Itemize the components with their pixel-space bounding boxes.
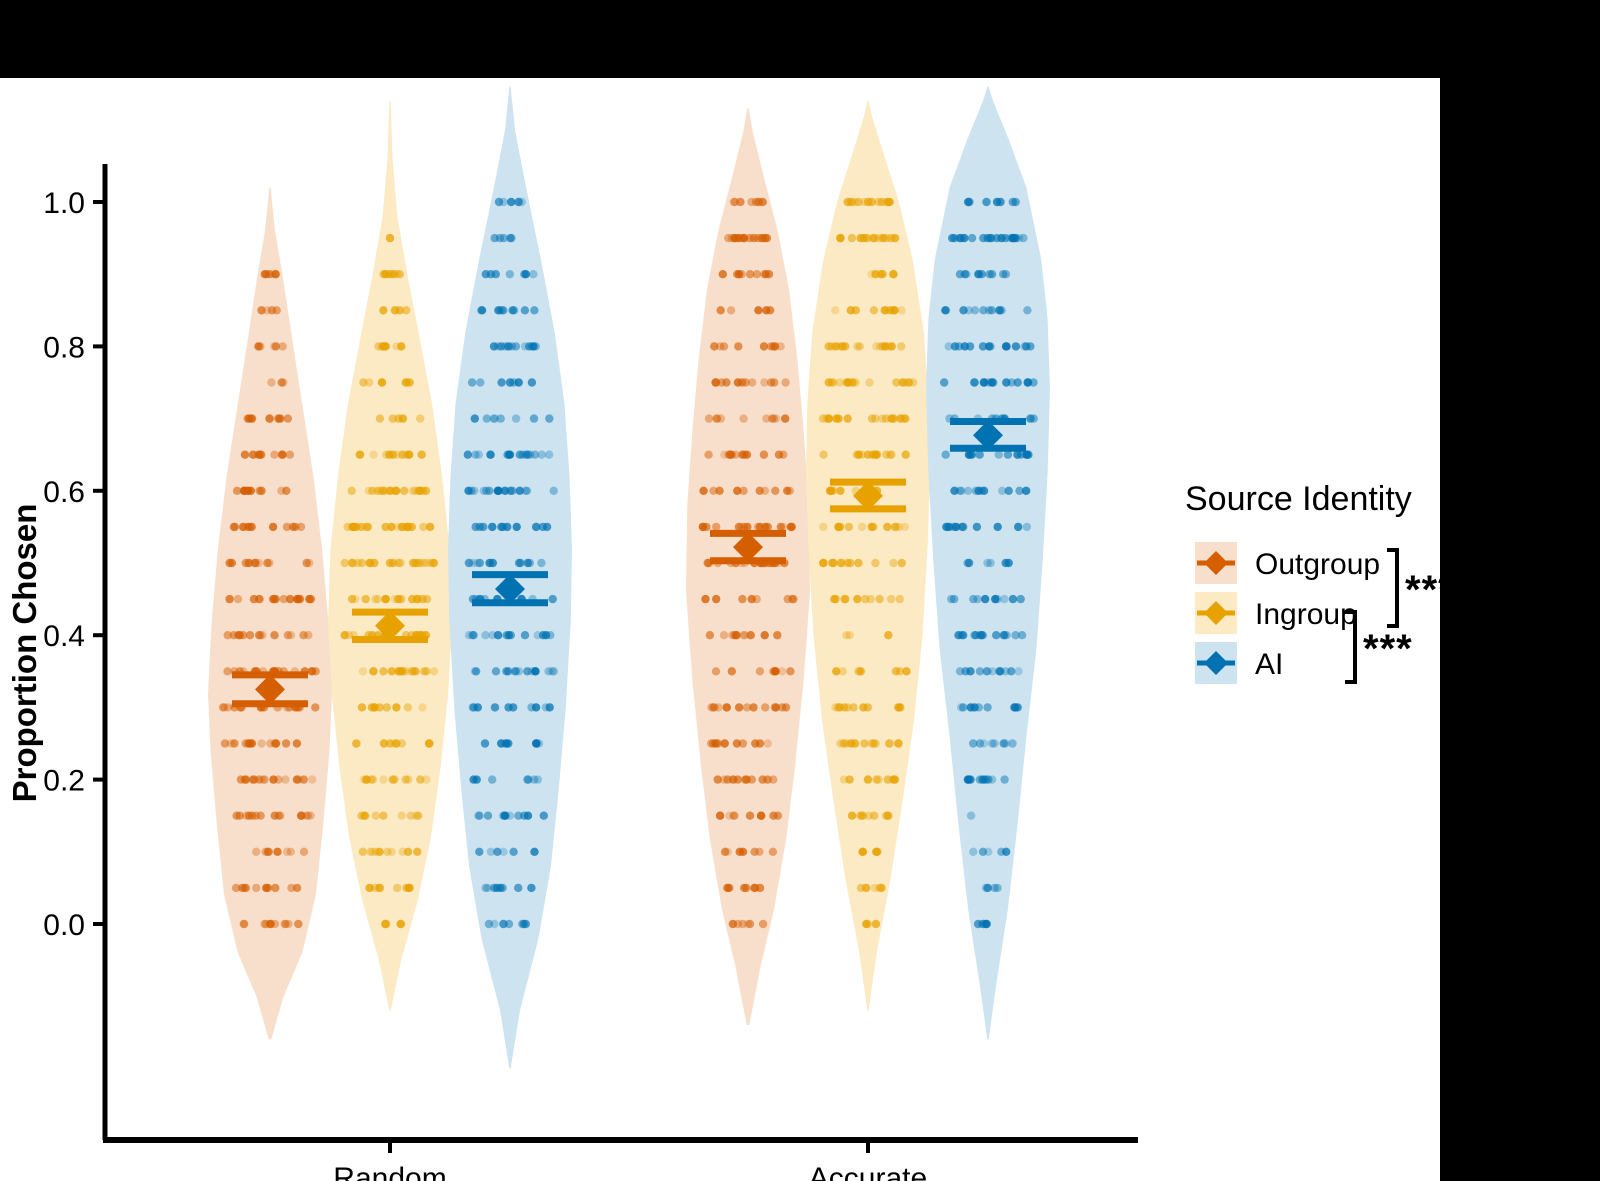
data-point [389, 451, 397, 459]
data-point [950, 523, 958, 531]
data-point [264, 848, 272, 856]
data-point [272, 595, 280, 603]
data-point [549, 595, 557, 603]
legend-item-label: Outgroup [1255, 548, 1380, 581]
data-point [967, 812, 975, 820]
data-point [982, 198, 990, 206]
data-point [1023, 523, 1031, 531]
data-point [997, 667, 1005, 675]
data-point [841, 595, 849, 603]
data-point [505, 920, 513, 928]
data-point [725, 812, 733, 820]
data-point [881, 306, 889, 314]
data-point [407, 812, 415, 820]
data-point [969, 848, 977, 856]
data-point [887, 414, 895, 422]
data-point [891, 775, 899, 783]
data-point [362, 775, 370, 783]
data-point [887, 451, 895, 459]
data-point [759, 198, 767, 206]
data-point [983, 703, 991, 711]
data-point [1000, 739, 1008, 747]
data-point [754, 306, 762, 314]
data-point [728, 631, 736, 639]
data-point [764, 523, 772, 531]
data-point [713, 414, 721, 422]
data-point [509, 848, 517, 856]
data-point [257, 451, 265, 459]
data-point [542, 631, 550, 639]
data-point [902, 451, 910, 459]
data-point [507, 198, 515, 206]
data-point [375, 848, 383, 856]
data-point [1001, 631, 1009, 639]
data-point [287, 848, 295, 856]
data-point [382, 595, 390, 603]
data-point [243, 414, 251, 422]
data-point [488, 775, 496, 783]
data-point [868, 414, 876, 422]
data-point [892, 667, 900, 675]
legend-item-label: Ingroup [1255, 598, 1357, 631]
data-point [761, 487, 769, 495]
data-point [704, 451, 712, 459]
data-point [754, 523, 762, 531]
data-point [940, 378, 948, 386]
data-point [854, 559, 862, 567]
data-point [979, 631, 987, 639]
data-point [734, 378, 742, 386]
data-point [761, 631, 769, 639]
data-point [867, 270, 875, 278]
data-point [781, 378, 789, 386]
data-point [255, 631, 263, 639]
data-point [386, 234, 394, 242]
data-point [550, 487, 558, 495]
data-point [228, 559, 236, 567]
data-point [237, 775, 245, 783]
data-point [530, 414, 538, 422]
data-point [1004, 451, 1012, 459]
data-point [464, 487, 472, 495]
data-point [348, 595, 356, 603]
data-point [984, 775, 992, 783]
data-point [993, 884, 1001, 892]
legend-item-label: AI [1255, 648, 1283, 681]
data-point [220, 703, 228, 711]
data-point [378, 378, 386, 386]
data-point [250, 559, 258, 567]
data-point [951, 234, 959, 242]
data-point [719, 270, 727, 278]
data-point [865, 812, 873, 820]
data-point [773, 631, 781, 639]
data-point [720, 631, 728, 639]
data-point [356, 451, 364, 459]
data-point [520, 920, 528, 928]
data-point [743, 775, 751, 783]
data-point [512, 414, 520, 422]
data-point [393, 884, 401, 892]
data-point [504, 342, 512, 350]
y-tick-label: 0.4 [43, 620, 85, 653]
data-point [872, 848, 880, 856]
data-point [538, 451, 546, 459]
data-point [276, 812, 284, 820]
data-point [252, 848, 260, 856]
data-point [475, 812, 483, 820]
x-tick-label: Random [333, 1162, 446, 1181]
data-point [359, 848, 367, 856]
data-point [1014, 667, 1022, 675]
data-point [909, 378, 917, 386]
data-point [969, 739, 977, 747]
data-point [481, 739, 489, 747]
data-point [492, 667, 500, 675]
data-point [847, 739, 855, 747]
y-tick-label: 1.0 [43, 187, 85, 220]
data-point [279, 378, 287, 386]
data-point [788, 523, 796, 531]
legend-item-ai: AI [1195, 642, 1283, 684]
data-point [471, 451, 479, 459]
data-point [1012, 342, 1020, 350]
data-point [897, 306, 905, 314]
data-point [981, 595, 989, 603]
data-point [281, 775, 289, 783]
data-point [727, 306, 735, 314]
data-point [286, 451, 294, 459]
data-point [484, 812, 492, 820]
data-point [840, 775, 848, 783]
data-point [722, 378, 730, 386]
data-point [523, 775, 531, 783]
data-point [1011, 631, 1019, 639]
data-point [284, 920, 292, 928]
data-point [379, 306, 387, 314]
data-point [366, 848, 374, 856]
data-point [734, 342, 742, 350]
data-point [870, 306, 878, 314]
data-point [737, 270, 745, 278]
data-point [244, 487, 252, 495]
data-point [358, 559, 366, 567]
data-point [767, 342, 775, 350]
data-point [1002, 342, 1010, 350]
data-point [721, 848, 729, 856]
data-point [530, 848, 538, 856]
data-point [761, 703, 769, 711]
data-point [842, 631, 850, 639]
data-point [844, 414, 852, 422]
data-point [863, 703, 871, 711]
data-point [416, 775, 424, 783]
data-point [786, 667, 794, 675]
data-point [469, 559, 477, 567]
data-point [550, 667, 558, 675]
data-point [723, 884, 731, 892]
data-point [1009, 595, 1017, 603]
data-point [824, 342, 832, 350]
data-point [477, 306, 485, 314]
data-point [770, 414, 778, 422]
data-point [976, 667, 984, 675]
data-point [221, 739, 229, 747]
data-point [508, 487, 516, 495]
data-point [1008, 739, 1016, 747]
data-point [831, 306, 839, 314]
bracket-path [1387, 550, 1397, 626]
data-point [892, 378, 900, 386]
data-point [527, 884, 535, 892]
data-point [368, 703, 376, 711]
data-point [875, 595, 883, 603]
data-point [901, 378, 909, 386]
significance-stars: *** [1363, 627, 1413, 671]
data-point [503, 631, 511, 639]
data-point [527, 703, 535, 711]
data-point [381, 920, 389, 928]
data-point [702, 523, 710, 531]
data-point [701, 595, 709, 603]
data-point [488, 523, 496, 531]
data-point [224, 631, 232, 639]
data-point [739, 920, 747, 928]
data-point [293, 739, 301, 747]
data-point [735, 703, 743, 711]
data-point [860, 739, 868, 747]
data-point [518, 451, 526, 459]
data-point [712, 523, 720, 531]
data-point [392, 703, 400, 711]
data-point [513, 523, 521, 531]
data-point [236, 812, 244, 820]
data-point [365, 884, 373, 892]
data-point [889, 270, 897, 278]
data-point [503, 451, 511, 459]
data-point [248, 812, 256, 820]
data-point [485, 559, 493, 567]
data-point [472, 667, 480, 675]
data-point [252, 884, 260, 892]
data-point [1013, 451, 1021, 459]
data-point [241, 451, 249, 459]
data-point [242, 884, 250, 892]
data-point [471, 414, 479, 422]
data-point [867, 523, 875, 531]
data-point [997, 848, 1005, 856]
data-point [942, 523, 950, 531]
data-point [494, 487, 502, 495]
data-point [988, 270, 996, 278]
data-point [497, 306, 505, 314]
data-point [379, 667, 387, 675]
data-point [845, 523, 853, 531]
data-point [968, 234, 976, 242]
y-tick-label: 0.2 [43, 765, 85, 798]
data-point [271, 920, 279, 928]
data-point [402, 306, 410, 314]
data-point [308, 667, 316, 675]
data-point [530, 306, 538, 314]
data-point [754, 234, 762, 242]
data-point [947, 595, 955, 603]
data-point [838, 342, 846, 350]
data-point [734, 775, 742, 783]
data-point [772, 703, 780, 711]
data-point [963, 559, 971, 567]
data-point [717, 306, 725, 314]
violin-plot: 0.00.20.40.60.81.0RandomAccurateSource A… [0, 78, 1440, 1181]
data-point [402, 775, 410, 783]
data-point [978, 270, 986, 278]
data-point [1007, 667, 1015, 675]
data-point [523, 667, 531, 675]
data-point [727, 451, 735, 459]
data-point [535, 739, 543, 747]
data-point [232, 884, 240, 892]
data-point [531, 667, 539, 675]
data-point [492, 270, 500, 278]
data-point [869, 739, 877, 747]
data-point [417, 451, 425, 459]
data-point [273, 848, 281, 856]
data-point [469, 775, 477, 783]
data-point [486, 451, 494, 459]
data-point [279, 342, 287, 350]
data-point [515, 378, 523, 386]
data-point [499, 198, 507, 206]
data-point [270, 631, 278, 639]
data-point [476, 378, 484, 386]
data-point [359, 667, 367, 675]
data-point [370, 559, 378, 567]
data-point [875, 775, 883, 783]
data-point [352, 739, 360, 747]
data-point [390, 775, 398, 783]
data-point [901, 523, 909, 531]
data-point [960, 234, 968, 242]
data-point [853, 595, 861, 603]
data-point [515, 559, 523, 567]
data-point [307, 595, 315, 603]
data-point [705, 414, 713, 422]
data-point [979, 234, 987, 242]
data-point [771, 487, 779, 495]
data-point [758, 775, 766, 783]
data-point [545, 451, 553, 459]
data-point [502, 739, 510, 747]
data-point [406, 378, 414, 386]
data-point [699, 487, 707, 495]
data-point [895, 703, 903, 711]
data-point [282, 487, 290, 495]
data-point [357, 523, 365, 531]
y-tick-label: 0.0 [43, 909, 85, 942]
data-point [970, 378, 978, 386]
data-point [223, 667, 231, 675]
data-point [898, 559, 906, 567]
violin-layer [208, 87, 1050, 1069]
data-point [991, 595, 999, 603]
data-point [1011, 234, 1019, 242]
data-point [242, 559, 250, 567]
data-point [1011, 198, 1019, 206]
legend-item-ingroup: Ingroup [1195, 592, 1357, 634]
data-point [415, 487, 423, 495]
data-point [406, 667, 414, 675]
data-point [733, 739, 741, 747]
data-point [832, 667, 840, 675]
data-point [397, 342, 405, 350]
data-point [524, 812, 532, 820]
data-point [302, 812, 310, 820]
data-point [286, 595, 294, 603]
data-point [819, 523, 827, 531]
data-point [987, 378, 995, 386]
data-point [381, 342, 389, 350]
data-point [882, 198, 890, 206]
data-point [387, 848, 395, 856]
data-point [1000, 595, 1008, 603]
data-point [269, 523, 277, 531]
data-point [425, 739, 433, 747]
data-point [746, 270, 754, 278]
data-point [1023, 306, 1031, 314]
data-point [786, 487, 794, 495]
data-point [464, 451, 472, 459]
data-point [413, 848, 421, 856]
legend-item-outgroup: Outgroup [1195, 542, 1380, 584]
data-point [769, 812, 777, 820]
data-point [827, 487, 835, 495]
data-point [532, 342, 540, 350]
data-point [305, 559, 313, 567]
data-point [876, 342, 884, 350]
data-point [494, 631, 502, 639]
data-point [833, 703, 841, 711]
data-point [825, 414, 833, 422]
data-point [270, 451, 278, 459]
data-point [712, 378, 720, 386]
data-point [404, 703, 412, 711]
data-point [878, 414, 886, 422]
data-point [976, 775, 984, 783]
data-point [369, 451, 377, 459]
data-point [728, 667, 736, 675]
data-point [369, 667, 377, 675]
data-point [964, 198, 972, 206]
data-point [777, 523, 785, 531]
data-point [1019, 234, 1027, 242]
data-point [733, 487, 741, 495]
data-point [871, 559, 879, 567]
data-point [239, 631, 247, 639]
data-point [994, 523, 1002, 531]
data-point [748, 378, 756, 386]
figure-root: 0.00.20.40.60.81.0RandomAccurateSource A… [0, 0, 1600, 1181]
data-point [1002, 559, 1010, 567]
data-point [982, 884, 990, 892]
data-point [854, 667, 862, 675]
data-point [885, 739, 893, 747]
data-point [864, 775, 872, 783]
data-point [248, 739, 256, 747]
data-point [270, 342, 278, 350]
data-point [394, 414, 402, 422]
data-point [404, 451, 412, 459]
data-point [423, 595, 431, 603]
